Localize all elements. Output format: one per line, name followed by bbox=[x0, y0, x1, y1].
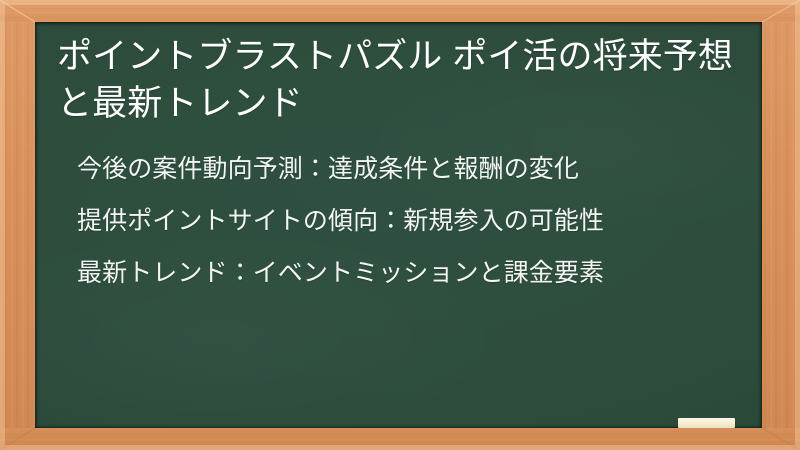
list-item: 最新トレンド：イベントミッションと課金要素 bbox=[77, 261, 738, 286]
bullet-list: 今後の案件動向予測：達成条件と報酬の変化 提供ポイントサイトの傾向：新規参入の可… bbox=[57, 127, 738, 286]
list-item: 提供ポイントサイトの傾向：新規参入の可能性 bbox=[77, 209, 738, 234]
blackboard-slide: ポイントブラストパズル ポイ活の将来予想と最新トレンド 今後の案件動向予測：達成… bbox=[0, 0, 800, 450]
chalk-stick-icon bbox=[678, 418, 735, 428]
chalkboard: ポイントブラストパズル ポイ活の将来予想と最新トレンド 今後の案件動向予測：達成… bbox=[35, 22, 762, 428]
board-content: ポイントブラストパズル ポイ活の将来予想と最新トレンド 今後の案件動向予測：達成… bbox=[35, 22, 762, 428]
page-title: ポイントブラストパズル ポイ活の将来予想と最新トレンド bbox=[57, 30, 738, 127]
list-item: 今後の案件動向予測：達成条件と報酬の変化 bbox=[77, 157, 738, 182]
